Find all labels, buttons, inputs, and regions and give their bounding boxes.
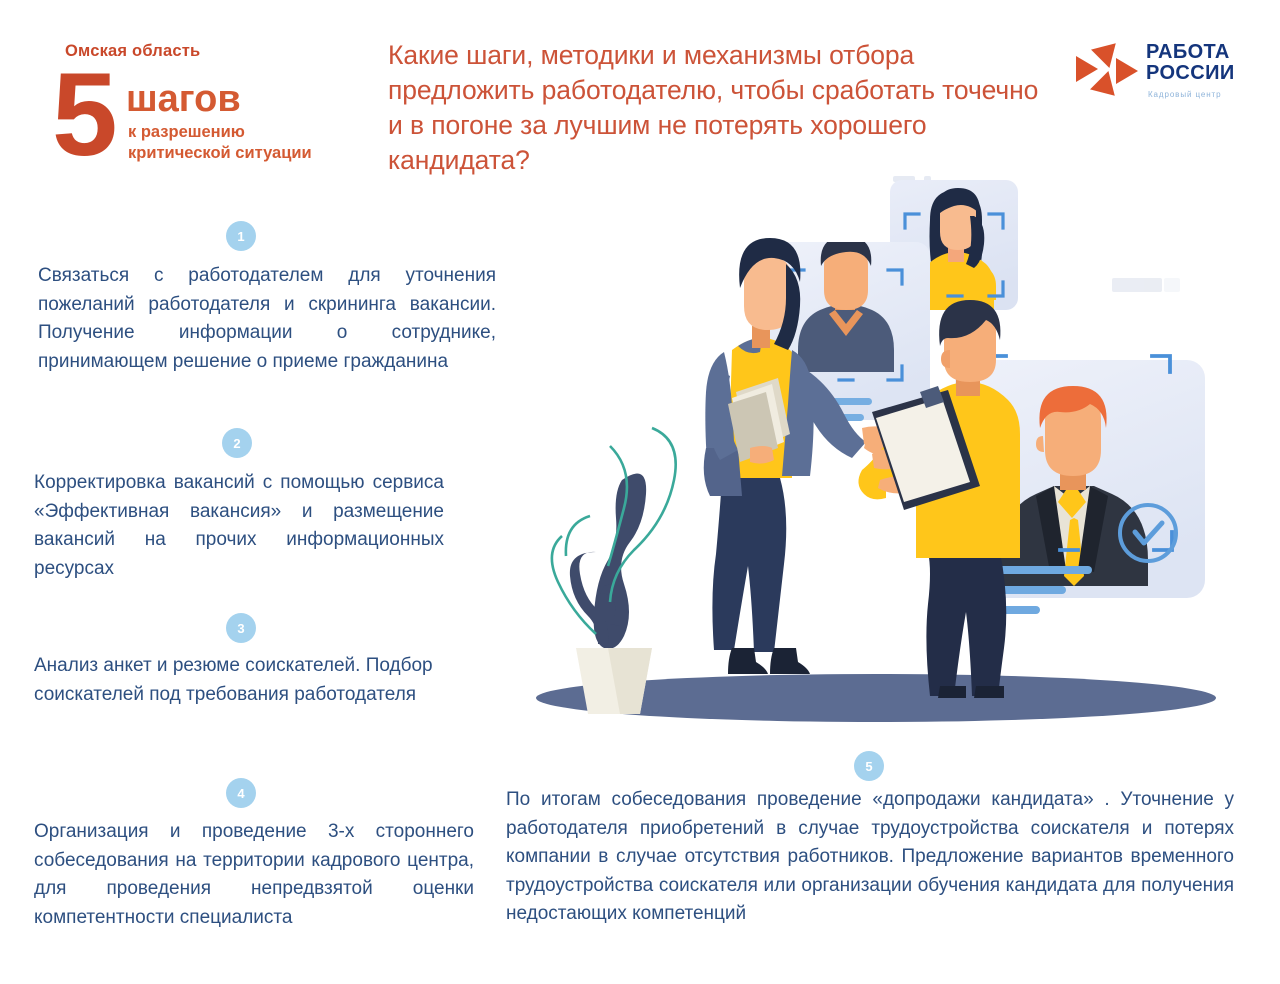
recruitment-illustration xyxy=(500,160,1260,730)
rabota-rossii-logo: РАБОТА РОССИИ Кадровый центр xyxy=(1078,38,1268,110)
step-text-3: Анализ анкет и резюме соискателей. Подбо… xyxy=(34,652,454,709)
logo-name-line2: РОССИИ xyxy=(1146,63,1235,84)
badge-number: 5 xyxy=(52,56,118,174)
steps-badge: 5 шагов к разрешению критической ситуаци… xyxy=(52,78,352,208)
step-number-badge-5: 5 xyxy=(854,751,884,781)
badge-subtitle: к разрешению критической ситуации xyxy=(128,122,338,164)
paper-sheet-decor xyxy=(1112,278,1180,292)
logo-tagline: Кадровый центр xyxy=(1148,90,1221,99)
step-text-1: Связаться с работодателем для уточнения … xyxy=(38,262,496,376)
badge-word: шагов xyxy=(126,80,241,118)
logo-name-line1: РАБОТА xyxy=(1146,42,1235,63)
step-number-badge-4: 4 xyxy=(226,778,256,808)
infographic-page: Омская область 5 шагов к разрешению крит… xyxy=(0,0,1280,984)
step-number-badge-3: 3 xyxy=(226,613,256,643)
potted-plant xyxy=(552,428,676,714)
step-text-4: Организация и проведение 3-х стороннего … xyxy=(34,818,474,932)
step-text-5: По итогам собеседования проведение «допр… xyxy=(506,786,1234,929)
page-headline: Какие шаги, методики и механизмы отбора … xyxy=(388,38,1048,178)
step-number-badge-1: 1 xyxy=(226,221,256,251)
step-text-2: Корректировка вакансий с помощью сервиса… xyxy=(34,469,444,583)
logo-name: РАБОТА РОССИИ xyxy=(1146,42,1235,84)
logo-triangles-icon xyxy=(1078,38,1140,100)
step-number-badge-2: 2 xyxy=(222,428,252,458)
